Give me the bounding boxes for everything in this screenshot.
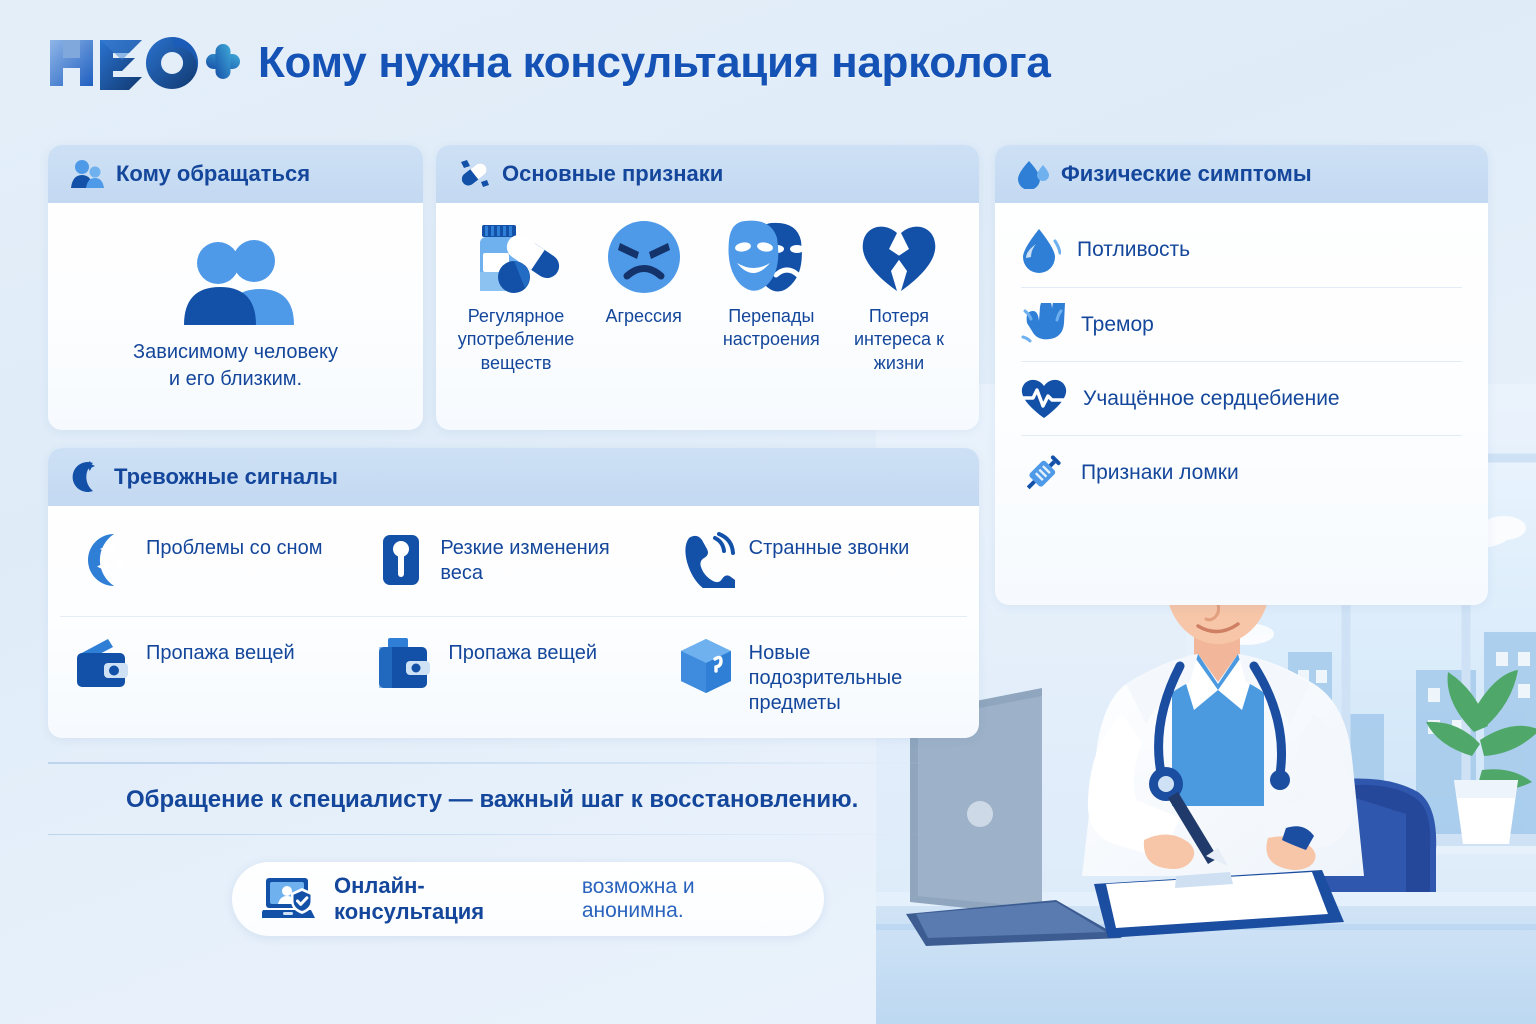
sign-item: Агрессия [582,219,706,328]
alarm-item: Странные звонки [665,512,967,616]
potted-plant [1426,670,1536,844]
bag-icon [376,637,434,689]
physical-symptom-label: Тремор [1081,312,1154,338]
page-header: Кому нужна консультация нарколога [46,34,1051,92]
crescent-moon-icon [70,461,102,493]
heart-pulse-icon [1021,378,1067,420]
physical-symptom-row: Признаки ломки [1021,435,1462,509]
physical-symptom-row: Потливость [1021,213,1462,287]
sign-item: Регулярное употребление веществ [454,219,578,375]
two-people-icon [178,239,294,325]
alarm-label: Новые подозрительные предметы [749,637,953,717]
theatre-masks-icon [721,219,821,295]
pill-normal-text: возможна и анонимна. [582,875,794,923]
wallet-icon [74,637,132,689]
card-signs-header: Основные признаки [436,145,979,203]
alarm-label: Странные звонки [749,532,910,561]
alarm-label: Проблемы со сном [146,532,322,561]
office-chair [1302,779,1436,946]
water-drops-icon [1017,159,1049,189]
syringe-icon [1021,451,1065,495]
clipboard [1094,870,1344,938]
who-caption-line-1: Зависимому человеку [133,339,338,366]
card-who-caption: Зависимому человеку и его близким. [133,339,338,393]
footer-divider-bottom [48,834,928,836]
phone-ringing-icon [679,532,735,588]
alarm-signals-grid: Проблемы со сном Резкие изменения веса [60,512,967,735]
alarm-item: Пропажа вещей [362,616,664,735]
card-physical-symptoms: Физические симптомы Потливость Тремор [995,145,1488,605]
sign-label: Перепады настроения [709,305,833,352]
droplet-icon [1021,227,1061,273]
sign-item: Перепады настроения [709,219,833,352]
weight-scale-icon [376,532,426,588]
card-alarm-header: Тревожные сигналы [48,448,979,506]
alarm-item: Проблемы со сном [60,512,362,616]
physical-symptom-label: Признаки ломки [1081,460,1239,486]
desk [876,892,1536,1024]
moon-sleep-icon [74,532,132,588]
card-who-body: Зависимому человеку и его близким. [48,203,423,430]
card-who-title: Кому обращаться [116,161,310,187]
alarm-item: Пропажа вещей [60,616,362,735]
card-phys-body: Потливость Тремор Учащённое сердцебиение [995,203,1488,521]
pill-bold-text: Онлайн-консультация [334,873,566,925]
physical-symptom-label: Потливость [1077,237,1190,263]
suspicious-package-icon [679,637,735,695]
card-alarm-body: Проблемы со сном Резкие изменения веса [48,506,979,738]
physical-symptom-label: Учащённое сердцебиение [1083,386,1340,412]
broken-heart-icon [859,219,939,295]
footer-message: Обращение к специалисту — важный шаг к в… [48,764,928,834]
online-consultation-badge[interactable]: Онлайн-консультация возможна и анонимна. [232,862,824,936]
card-main-signs: Основные признаки Регулярное употреблени… [436,145,979,430]
laptop-verified-icon [262,876,318,922]
card-signs-title: Основные признаки [502,161,723,187]
physical-symptom-row: Учащённое сердцебиение [1021,361,1462,435]
card-alarm-signals: Тревожные сигналы Проблемы со сном Резки… [48,448,979,738]
sign-label: Регулярное употребление веществ [454,305,578,375]
neo-plus-logo [46,34,242,92]
card-signs-body: Регулярное употребление веществ Агрессия… [436,203,979,385]
footer-message-block: Обращение к специалисту — важный шаг к в… [48,762,928,835]
page-title: Кому нужна консультация нарколога [258,38,1051,88]
physical-symptom-row: Тремор [1021,287,1462,361]
sign-item: Потеря интереса к жизни [837,219,961,375]
card-phys-header: Физические симптомы [995,145,1488,203]
alarm-label: Пропажа вещей [448,637,597,666]
sign-label: Потеря интереса к жизни [837,305,961,375]
people-icon [70,159,104,189]
alarm-item: Новые подозрительные предметы [665,616,967,735]
pills-icon [458,159,490,189]
alarm-item: Резкие изменения веса [362,512,664,616]
card-who-to-contact: Кому обращаться Зависимому человеку и ег… [48,145,423,430]
angry-face-icon [605,219,683,295]
card-alarm-title: Тревожные сигналы [114,464,338,490]
medicine-bottle-pills-icon [470,219,562,295]
alarm-label: Пропажа вещей [146,637,295,666]
who-caption-line-2: и его близким. [133,366,338,393]
sign-label: Агрессия [605,305,681,328]
card-phys-title: Физические симптомы [1061,161,1312,187]
alarm-label: Резкие изменения веса [440,532,650,586]
card-who-header: Кому обращаться [48,145,423,203]
shaking-hand-icon [1021,303,1065,347]
